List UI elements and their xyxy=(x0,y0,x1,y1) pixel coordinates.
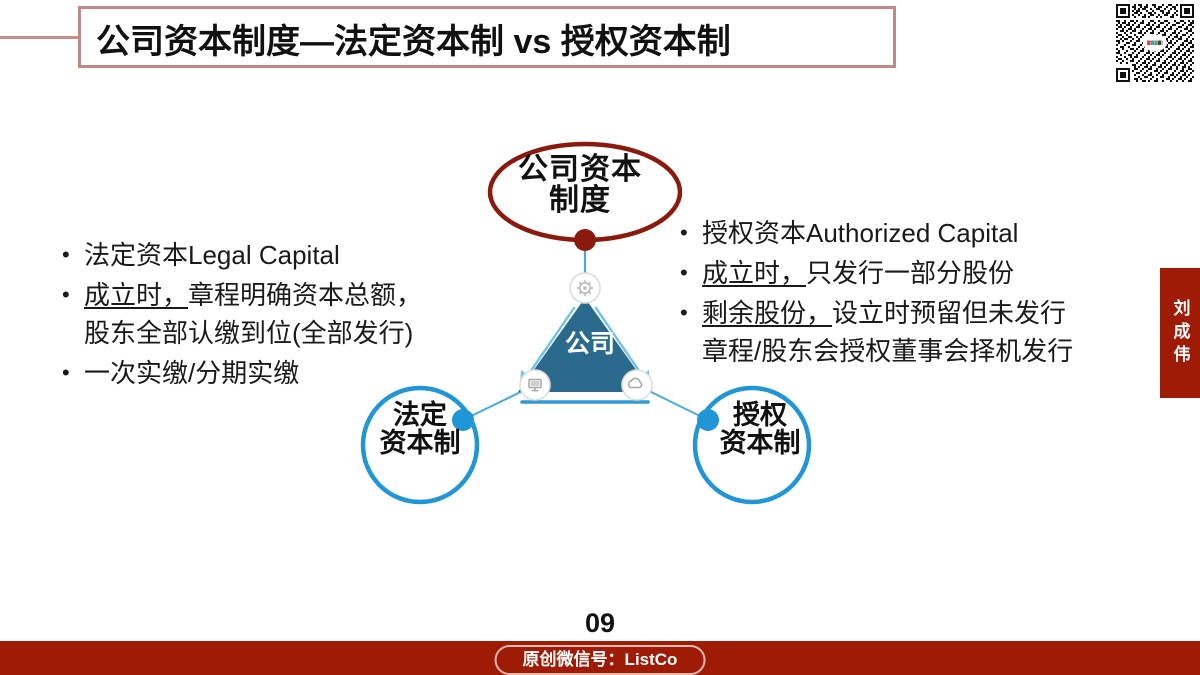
page-number: 09 xyxy=(0,608,1200,639)
monitor-screen xyxy=(531,381,540,386)
node-left-dot xyxy=(452,409,474,431)
vertex-chip-right xyxy=(622,370,652,400)
page-title: 公司资本制度—法定资本制 vs 授权资本制 xyxy=(96,12,896,64)
qr-code-icon xyxy=(1114,2,1196,84)
bullet-marker-icon: • xyxy=(62,354,84,392)
node-right-circle xyxy=(695,388,809,502)
slide-canvas: 公司资本制度—法定资本制 vs 授权资本制 xyxy=(0,0,1200,675)
bullet-underlined-phrase: 成立时， xyxy=(84,280,188,310)
bullet-marker-icon: • xyxy=(62,276,84,314)
bullet-text: 法定资本Legal Capital xyxy=(84,236,340,274)
bullet-text: 一次实缴/分期实缴 xyxy=(84,354,299,392)
capital-system-diagram: 公司资本 制度 法定 资本制 授权 资本制 公司 xyxy=(330,130,850,510)
author-tab: 刘成伟 xyxy=(1160,268,1200,398)
node-top-dot xyxy=(574,229,596,251)
node-right-dot xyxy=(697,409,719,431)
bullet-marker-icon: • xyxy=(62,236,84,274)
footer-wechat-badge: 原创微信号：ListCo xyxy=(495,645,706,675)
gear-icon xyxy=(578,281,593,296)
footer-bar: 原创微信号：ListCo xyxy=(0,641,1200,675)
title-left-rule xyxy=(0,36,80,39)
node-left-circle xyxy=(363,388,477,502)
node-top-ellipse xyxy=(490,144,680,240)
